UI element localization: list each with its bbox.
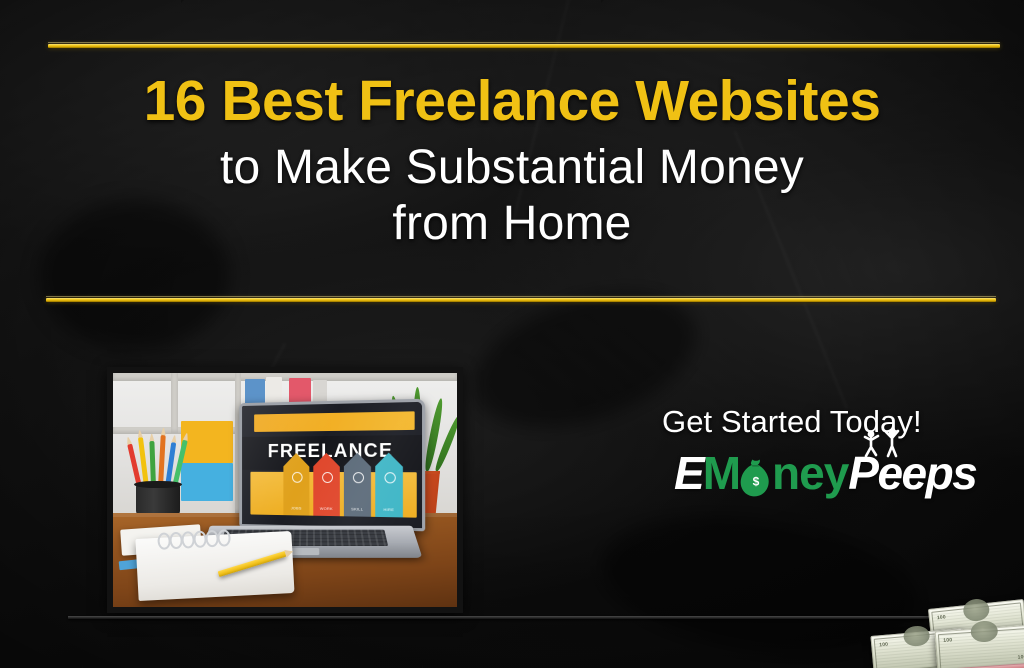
photo-badge-label: WORK [313,505,340,510]
photo-badge-icon [384,472,395,483]
promo-slide: 16 Best Freelance Websites to Make Subst… [0,0,1024,668]
top-gold-rule [48,44,1000,48]
photo-pencil-cup-group [133,435,185,515]
photo-spiral-binding [157,529,226,545]
photo-holder-rim [134,481,182,488]
bill-portrait [962,598,991,623]
photo-screen-band-top [254,411,414,432]
headline-line-1: 16 Best Freelance Websites [0,72,1024,131]
logo-letter-m: M [703,450,740,496]
photo-badge-icon [292,472,303,483]
photo-shelf-post [171,373,178,433]
photo-laptop-screen: FREELANCE JOBS WORK SKILL [239,399,425,532]
bill-stack: 100 100 [935,625,1024,668]
photo-spiral-ring [217,529,231,547]
bill-denomination: 100 [879,642,888,649]
logo-letter-e: E [674,450,703,496]
headline-line-3: from Home [0,199,1024,249]
bill-denomination: 100 [943,637,952,644]
bill-face: 100 100 [938,628,1024,668]
svg-text:$: $ [753,475,760,489]
logo-letters-ney: ney [772,450,848,496]
photo-poster-blue [181,463,233,501]
headline-line-2: to Make Substantial Money [0,143,1024,193]
photo-badge-icon [322,472,333,483]
bill-portrait [903,625,930,647]
photo-canvas: FREELANCE JOBS WORK SKILL [113,373,457,607]
photo-badge-label: HIRE [375,506,403,512]
photo-poster-yellow [181,421,233,463]
bottom-gold-rule [46,298,996,302]
bill-denomination: 100 [937,614,947,621]
freelance-laptop-photo: FREELANCE JOBS WORK SKILL [107,367,463,613]
photo-notebook [135,531,294,601]
people-figures-icon [862,420,908,452]
brand-logo[interactable]: E M $ ney Peeps [674,450,976,496]
bill-denomination: 100 [1018,654,1024,661]
logo-peeps-group: Peeps [848,450,976,496]
bill-portrait [970,620,998,643]
photo-badge-label: SKILL [343,506,371,512]
photo-badge-label: JOBS [283,505,309,510]
photo-badge-icon [353,472,364,483]
photo-screen-surface: FREELANCE JOBS WORK SKILL [242,402,422,528]
photo-pencil-holder [136,485,180,515]
photo-pencil [158,435,166,487]
page-title: 16 Best Freelance Websites to Make Subst… [0,72,1024,249]
hundred-dollar-bill-stacks: 100 100 100 100 100 100 [864,598,1024,668]
money-bag-icon: $ [739,458,773,498]
